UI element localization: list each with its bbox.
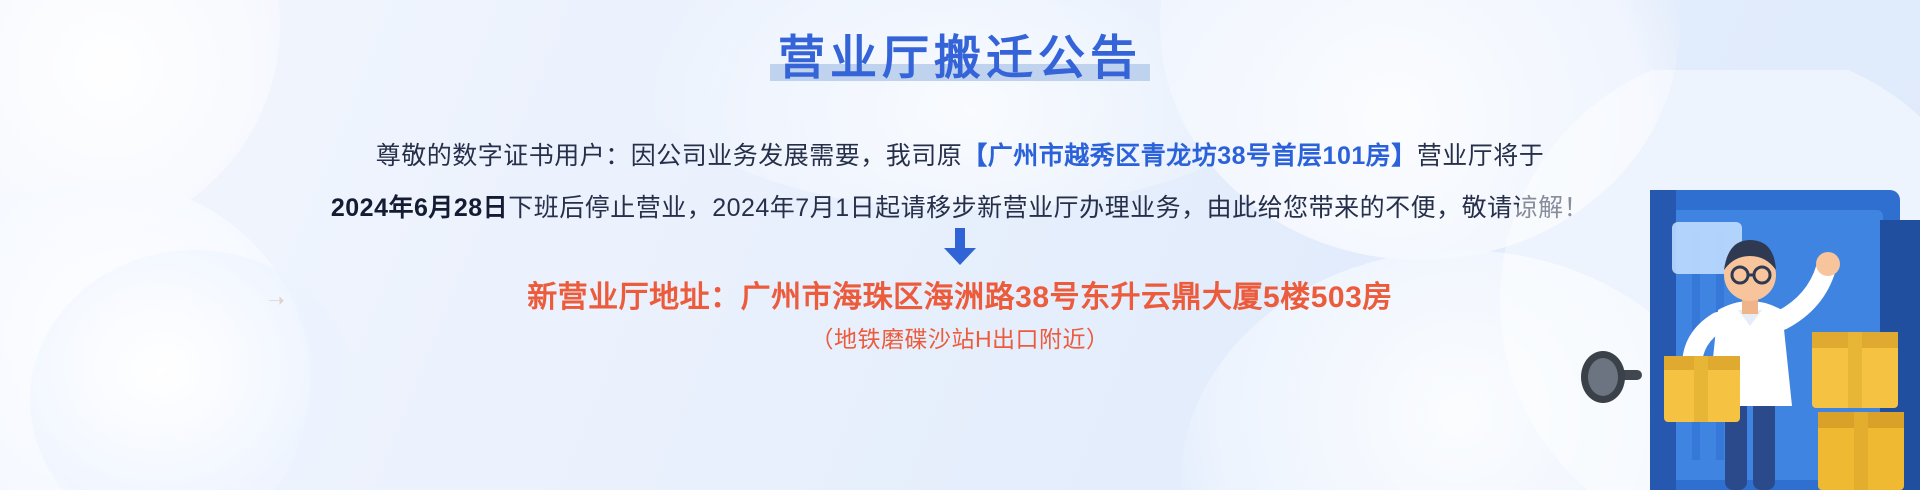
new-office-address-note: （地铁磨碟沙站H出口附近） <box>0 320 1920 354</box>
notice-line-1: 尊敬的数字证书用户：因公司业务发展需要，我司原【广州市越秀区青龙坊38号首层10… <box>0 136 1920 172</box>
banner-content: 营业厅搬迁公告 尊敬的数字证书用户：因公司业务发展需要，我司原【广州市越秀区青龙… <box>0 0 1920 490</box>
page-title-wrap: 营业厅搬迁公告 <box>0 27 1920 88</box>
closing-date: 2024年6月28日 <box>331 194 508 222</box>
notice-line-1-part-1: 尊敬的数字证书用户：因公司业务发展需要，我司原 <box>376 142 963 170</box>
notice-line-2: 2024年6月28日下班后停止营业，2024年7月1日起请移步新营业厅办理业务，… <box>0 188 1920 224</box>
old-office-address: 【广州市越秀区青龙坊38号首层101房】 <box>962 142 1417 170</box>
down-arrow-icon <box>940 228 980 266</box>
notice-line-2-rest: 下班后停止营业，2024年7月1日起请移步新营业厅办理业务，由此给您带来的不便，… <box>508 194 1589 222</box>
notice-line-1-part-2: 营业厅将于 <box>1417 142 1545 170</box>
page-title-text: 营业厅搬迁公告 <box>778 31 1142 84</box>
page-title: 营业厅搬迁公告 <box>770 27 1150 88</box>
new-office-address: 新营业厅地址：广州市海珠区海洲路38号东升云鼎大厦5楼503房 <box>0 272 1920 316</box>
relocation-notice-banner: 营业厅搬迁公告 尊敬的数字证书用户：因公司业务发展需要，我司原【广州市越秀区青龙… <box>0 0 1920 490</box>
down-arrow-wrap <box>0 228 1920 266</box>
